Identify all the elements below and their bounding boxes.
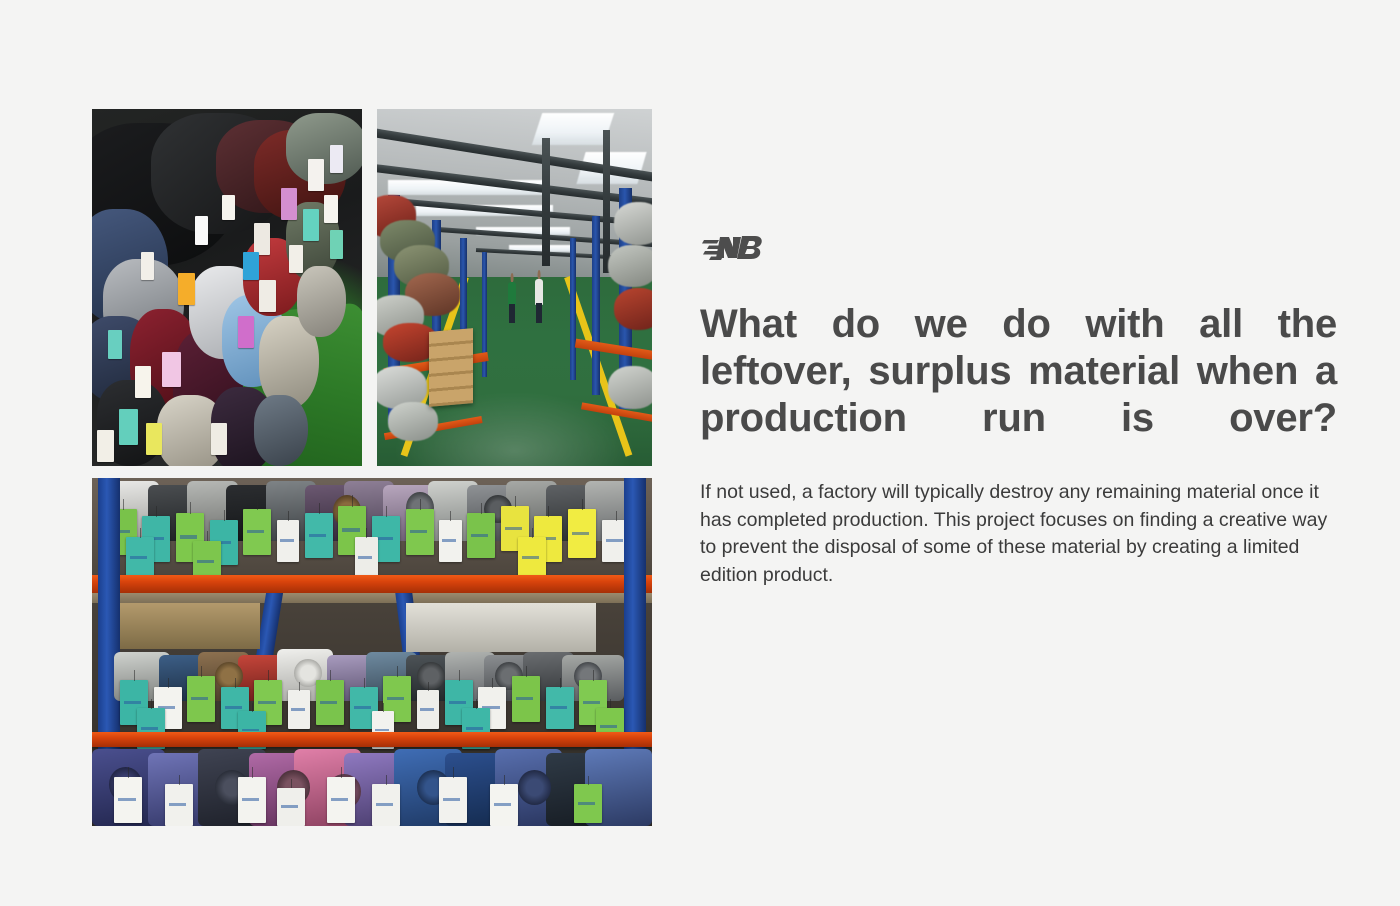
- new-balance-logo: [702, 231, 764, 263]
- photo-warehouse-aisle: [377, 109, 652, 466]
- slide-content: What do we do with all the leftover, sur…: [700, 0, 1340, 906]
- photo-tagged-fabric-rolls: [92, 478, 652, 826]
- worker-figure: [506, 273, 517, 323]
- photo-collage: [52, 93, 612, 810]
- page-title: What do we do with all the leftover, sur…: [700, 301, 1337, 489]
- body-paragraph: If not used, a factory will typically de…: [700, 479, 1341, 589]
- worker-figure: [534, 270, 545, 324]
- photo-fabric-pile: [92, 109, 362, 466]
